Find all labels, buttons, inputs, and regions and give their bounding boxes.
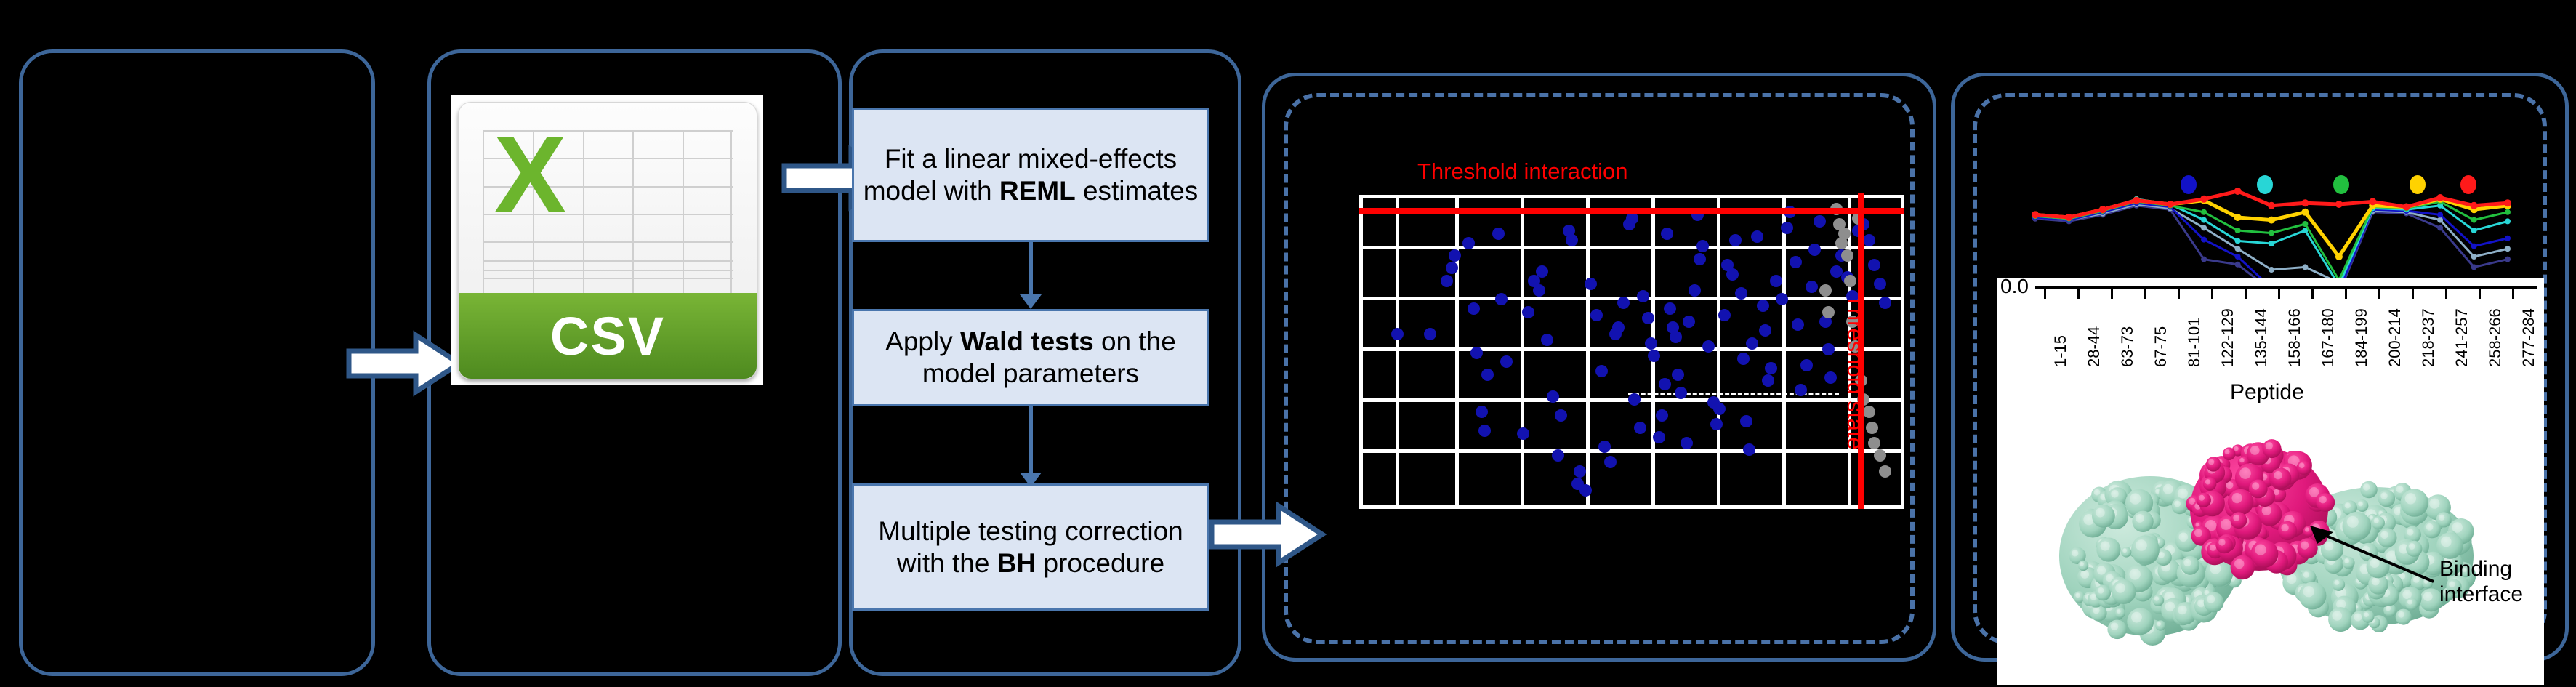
protein-surface-highlight	[2334, 580, 2339, 585]
protein-surface-highlight	[2122, 548, 2127, 553]
step-wald-text: Apply Wald tests on the model parameters	[860, 326, 1202, 389]
peptide-series-marker	[2302, 221, 2308, 227]
protein-surface-highlight	[2441, 537, 2452, 547]
protein-surface-highlight	[2178, 606, 2186, 614]
scatter-point	[1468, 302, 1480, 315]
x-axis-tick-mark	[2479, 289, 2481, 299]
scatter-point	[1822, 343, 1835, 355]
scatter-point	[1598, 441, 1611, 453]
scatter-point	[1642, 312, 1654, 324]
peptide-tick-label: 158-166	[2285, 308, 2304, 367]
scatter-point	[1675, 387, 1687, 399]
legend-dot-4	[2410, 175, 2426, 194]
protein-surface-highlight	[2266, 442, 2273, 449]
protein-surface-highlight	[2179, 533, 2188, 542]
legend-dot-2	[2257, 175, 2273, 194]
protein-surface-highlight	[2370, 515, 2374, 520]
x-axis-tick-mark	[2111, 289, 2113, 299]
protein-surface-highlight	[2111, 490, 2119, 498]
scatter-point	[1814, 215, 1826, 228]
scatter-point	[1792, 318, 1804, 331]
protein-surface-highlight	[2305, 527, 2309, 531]
protein-surface-highlight	[2303, 586, 2314, 597]
scatter-point	[1689, 284, 1701, 297]
protein-surface-atom	[2405, 598, 2418, 610]
scatter-point	[1626, 212, 1638, 225]
scatter-point	[1751, 230, 1763, 243]
arrow-input-to-csv	[346, 331, 462, 396]
peptide-series-marker	[2065, 214, 2072, 221]
scatter-point	[1822, 306, 1835, 318]
protein-surface-atom	[2231, 555, 2255, 579]
protein-surface-atom	[2152, 595, 2164, 606]
x-axis-tick-mark	[2512, 289, 2514, 299]
protein-surface-highlight	[2407, 600, 2412, 605]
protein-surface-atom	[2131, 535, 2160, 563]
protein-surface-atom	[2249, 480, 2268, 499]
protein-surface-atom	[2181, 556, 2199, 575]
spreadsheet-grid-lower-icon	[483, 260, 733, 296]
excel-x-icon: X	[464, 105, 595, 244]
scatter-point	[1770, 275, 1782, 287]
scatter-point	[1824, 371, 1837, 384]
scatter-point	[1781, 222, 1793, 234]
protein-surface-atom	[2231, 512, 2247, 529]
protein-surface-highlight	[2174, 501, 2181, 507]
protein-surface-svg	[1997, 407, 2544, 685]
protein-surface-highlight	[2093, 607, 2099, 614]
scatter-point	[1645, 337, 1657, 350]
protein-surface-highlight	[2364, 612, 2369, 617]
protein-surface-highlight	[2299, 462, 2305, 468]
scatter-point	[1795, 384, 1807, 396]
peptide-series-marker	[2235, 246, 2241, 252]
scatter-point	[1659, 378, 1671, 390]
protein-surface-highlight	[2319, 496, 2327, 503]
scatter-point	[1492, 228, 1505, 240]
scatter-point	[1517, 427, 1529, 440]
protein-surface-highlight	[2115, 583, 2125, 593]
protein-surface-highlight	[2380, 531, 2388, 539]
protein-surface-highlight	[2372, 577, 2380, 585]
protein-surface-atom	[2107, 620, 2127, 640]
scatter-point	[1424, 328, 1436, 340]
protein-surface-atom	[2328, 607, 2353, 632]
protein-structure-image: Binding interface	[1997, 407, 2544, 685]
peptide-series-marker	[2335, 253, 2343, 260]
protein-surface-highlight	[2252, 482, 2259, 489]
peptide-series-marker	[2235, 262, 2241, 268]
scatter-point	[1713, 403, 1726, 415]
protein-surface-highlight	[2405, 493, 2416, 504]
protein-surface-atom	[2197, 493, 2211, 507]
protein-surface-highlight	[2309, 487, 2319, 497]
protein-surface-highlight	[2413, 576, 2420, 583]
protein-surface-highlight	[2183, 559, 2191, 566]
step-bh-text: Multiple testing correction with the BH …	[878, 515, 1183, 579]
protein-surface-atom	[2298, 538, 2318, 558]
protein-surface-highlight	[2398, 611, 2404, 618]
protein-surface-atom	[2278, 521, 2297, 540]
scatter-point	[1740, 415, 1752, 427]
protein-surface-atom	[2172, 498, 2188, 514]
step-reml-box: Fit a linear mixed-effects model with RE…	[852, 108, 1209, 242]
x-axis-tick-mark	[2178, 289, 2180, 299]
protein-surface-highlight	[2370, 558, 2380, 568]
peptide-series-marker	[2201, 225, 2207, 230]
x-axis-tick-mark	[2278, 289, 2280, 299]
protein-surface-highlight	[2075, 593, 2080, 598]
threshold-interaction-line	[1359, 208, 1904, 214]
protein-surface-highlight	[2072, 550, 2078, 556]
protein-surface-highlight	[2439, 515, 2444, 521]
scatter-point	[1555, 409, 1567, 422]
scatter-point	[1672, 369, 1684, 381]
scatter-point	[1541, 334, 1553, 346]
protein-surface-highlight	[2233, 515, 2239, 521]
scatter-point	[1746, 337, 1758, 350]
protein-surface-atom	[2223, 447, 2236, 460]
protein-surface-highlight	[2426, 523, 2434, 531]
peptide-series-marker	[2436, 194, 2444, 201]
connector-reml-to-wald-arrowhead	[1020, 294, 1042, 309]
protein-surface-atom	[2127, 608, 2154, 635]
scatter-point	[1628, 393, 1641, 406]
protein-surface-highlight	[2358, 502, 2363, 507]
connector-reml-to-wald	[1029, 242, 1033, 299]
scatter-point	[1617, 297, 1630, 309]
x-axis-tick-mark	[2412, 289, 2414, 299]
scatter-point	[1653, 431, 1665, 443]
scatter-point	[1670, 331, 1682, 343]
scatter-point	[1612, 321, 1625, 334]
protein-surface-highlight	[2221, 519, 2231, 530]
scatter-point	[1726, 268, 1739, 281]
scatter-point	[1743, 443, 1755, 456]
protein-surface-atom	[2096, 585, 2112, 601]
scatter-point	[1879, 465, 1891, 478]
scatter-point	[1656, 409, 1668, 422]
peptide-series-marker	[2471, 217, 2477, 223]
protein-surface-highlight	[2205, 479, 2210, 484]
protein-surface-highlight	[2207, 595, 2215, 603]
scatter-point	[1585, 278, 1597, 290]
peptide-series-marker	[2268, 202, 2275, 209]
scatter-point	[1776, 293, 1788, 305]
protein-surface-highlight	[2080, 570, 2089, 579]
x-axis-tick-mark	[2445, 289, 2447, 299]
x-axis-tick-mark	[2144, 289, 2146, 299]
scatter-point	[1765, 362, 1777, 374]
scatter-point	[1476, 406, 1488, 418]
x-axis-tick-mark	[2345, 289, 2347, 299]
protein-surface-highlight	[2163, 484, 2173, 494]
scatter-point	[1533, 284, 1545, 297]
protein-surface-highlight	[2232, 493, 2242, 503]
peptide-tick-label: 28-44	[2085, 326, 2104, 367]
scatter-point	[1604, 456, 1617, 468]
scatter-point	[1863, 234, 1875, 246]
protein-surface-atom	[2343, 557, 2355, 569]
csv-file-icon: X CSV	[451, 95, 763, 385]
peptide-series-marker	[2471, 202, 2478, 209]
binding-interface-line1: Binding	[2439, 557, 2523, 582]
peptide-series-marker	[2335, 201, 2343, 208]
protein-surface-highlight	[2098, 587, 2104, 594]
peptide-tick-label: 135-144	[2252, 308, 2271, 367]
peptide-series-marker	[2302, 264, 2308, 270]
scatter-point	[1868, 259, 1880, 271]
peptide-series-marker	[2269, 267, 2274, 273]
protein-surface-highlight	[2325, 542, 2333, 550]
protein-surface-highlight	[2396, 486, 2404, 493]
protein-surface-highlight	[2452, 522, 2463, 532]
y-axis-tick-0: 0.0	[2000, 275, 2029, 298]
scatter-point	[1634, 422, 1646, 434]
peptide-series-marker	[2235, 228, 2241, 233]
protein-surface-highlight	[2429, 499, 2439, 509]
scatter-point	[1552, 449, 1564, 462]
csv-format-label: CSV	[459, 293, 757, 379]
peptide-series-marker	[2403, 204, 2410, 211]
scatter-point	[1879, 297, 1891, 309]
scatter-point	[1470, 347, 1483, 359]
x-axis-tick-mark	[2044, 289, 2046, 299]
protein-surface-highlight	[2096, 508, 2105, 518]
peptide-tick-label: 218-237	[2419, 308, 2438, 367]
peptide-series-marker	[2234, 188, 2242, 195]
protein-surface-atom	[2271, 468, 2292, 489]
scatter-point	[1462, 237, 1475, 249]
protein-surface-atom	[2250, 540, 2278, 568]
arrow-bh-to-results	[1209, 502, 1325, 567]
protein-surface-highlight	[2111, 623, 2119, 631]
peptide-tick-label: 167-180	[2319, 308, 2338, 367]
peptide-series-marker	[2369, 198, 2376, 205]
protein-surface-highlight	[2250, 446, 2260, 455]
scatter-point	[1710, 418, 1723, 430]
protein-surface-highlight	[2281, 524, 2288, 531]
peptide-tick-label: 122-129	[2218, 308, 2237, 367]
scatter-point	[1702, 340, 1715, 353]
scatter-point	[1500, 355, 1513, 368]
protein-surface-atom	[2115, 608, 2125, 618]
scatter-point	[1696, 240, 1709, 252]
protein-surface-atom	[2406, 541, 2422, 557]
scatter-point	[1536, 265, 1548, 278]
protein-surface-atom	[2360, 481, 2378, 499]
protein-surface-atom	[2204, 592, 2224, 613]
protein-surface-highlight	[2117, 609, 2121, 614]
protein-surface-highlight	[2080, 562, 2084, 566]
protein-surface-atom	[2299, 582, 2327, 609]
scatter-point	[1574, 465, 1586, 478]
scatter-point	[1681, 437, 1693, 449]
protein-surface-highlight	[2136, 514, 2144, 523]
scatter-point	[1449, 249, 1461, 262]
scatter-point	[1759, 324, 1771, 337]
peptide-series-marker	[2167, 201, 2174, 208]
protein-surface-highlight	[2402, 590, 2412, 600]
protein-surface-atom	[2297, 461, 2311, 475]
scatter-point	[1441, 275, 1453, 287]
binding-interface-line2: interface	[2439, 582, 2523, 608]
peptide-tick-label: 67-75	[2152, 326, 2170, 367]
protein-surface-atom	[2378, 490, 2396, 507]
legend-dot-3	[2333, 175, 2349, 194]
scatter-point	[1844, 275, 1856, 287]
x-axis-tick-mark	[2311, 289, 2314, 299]
protein-surface-highlight	[2301, 542, 2309, 550]
protein-surface-highlight	[2130, 569, 2141, 579]
protein-surface-atom	[2155, 620, 2165, 630]
protein-surface-highlight	[2262, 506, 2271, 515]
legend-dot-1	[2181, 175, 2197, 194]
peptide-series-marker	[2505, 218, 2511, 224]
peptide-series-marker	[2505, 246, 2511, 252]
peptide-series-marker	[2437, 225, 2443, 230]
protein-surface-highlight	[2208, 459, 2214, 465]
scatter-point	[1661, 228, 1673, 240]
protein-surface-highlight	[2407, 529, 2413, 535]
peptide-series-marker	[2201, 257, 2207, 262]
scatter-point	[1868, 437, 1880, 449]
protein-surface-atom	[2215, 537, 2233, 554]
protein-surface-atom	[2378, 528, 2397, 547]
protein-surface-atom	[2362, 611, 2374, 623]
protein-surface-atom	[2203, 477, 2217, 491]
protein-surface-atom	[2112, 579, 2136, 604]
scatter-point	[1595, 365, 1608, 377]
peptide-tick-label: 63-73	[2118, 326, 2137, 367]
peptide-series-marker	[2234, 214, 2242, 221]
scatter-point	[1838, 228, 1851, 240]
protein-surface-highlight	[2178, 489, 2188, 499]
protein-surface-highlight	[2423, 592, 2433, 601]
scatter-point	[1874, 449, 1886, 462]
scatter-point	[1735, 287, 1747, 300]
protein-surface-atom	[2343, 512, 2372, 541]
peptide-series-marker	[2200, 196, 2207, 203]
protein-surface-atom	[2333, 578, 2346, 591]
scatter-point	[1478, 425, 1491, 437]
protein-surface-highlight	[2347, 516, 2359, 528]
peptide-series-marker	[2471, 228, 2477, 233]
legend-dot-5	[2460, 175, 2476, 194]
peptide-tick-label: 184-199	[2352, 308, 2371, 367]
protein-surface-highlight	[2194, 529, 2202, 537]
threshold-scatter-plot: Threshold interaction Threshold state	[1359, 167, 1904, 509]
protein-surface-highlight	[2255, 545, 2266, 555]
scatter-point	[1762, 374, 1774, 387]
peptide-series-marker	[2235, 254, 2241, 260]
peptide-tick-label: 81-101	[2185, 317, 2204, 367]
step-reml-text: Fit a linear mixed-effects model with RE…	[860, 143, 1202, 206]
step-bh-box: Multiple testing correction with the BH …	[852, 483, 1209, 611]
x-axis-tick-mark	[2077, 289, 2080, 299]
protein-surface-highlight	[2130, 494, 2141, 505]
peptide-series-marker	[2269, 230, 2274, 236]
peptide-tick-label: 258-266	[2486, 308, 2505, 367]
scatter-point	[1637, 290, 1649, 302]
protein-surface-highlight	[2374, 518, 2379, 523]
protein-surface-atom	[2356, 499, 2368, 512]
scatter-point	[1718, 309, 1731, 321]
peptide-series-marker	[2032, 211, 2039, 218]
peptide-series-marker	[2201, 237, 2207, 243]
scatter-points-layer	[1359, 167, 1904, 509]
protein-surface-highlight	[2380, 492, 2387, 499]
peptide-series-marker	[2269, 241, 2274, 246]
scatter-point	[1579, 484, 1592, 497]
input-panel	[19, 49, 375, 676]
protein-surface-atom	[2401, 489, 2428, 516]
peptide-series-marker	[2235, 238, 2241, 244]
peptide-series-marker	[2268, 217, 2275, 224]
flowchart-canvas: X CSV Fit a linear mixed-effects model w…	[0, 0, 2576, 687]
protein-surface-highlight	[2199, 495, 2205, 501]
scatter-point	[1547, 390, 1559, 403]
peptide-series-marker	[2201, 209, 2207, 215]
step-wald-box: Apply Wald tests on the model parameters	[852, 309, 1209, 406]
protein-surface-atom	[2316, 493, 2335, 512]
peptide-series-marker	[2505, 209, 2511, 215]
scatter-point	[1446, 262, 1458, 274]
x-axis-tick-mark	[2378, 289, 2380, 299]
peptide-series-marker	[2437, 212, 2443, 217]
binding-interface-label: Binding interface	[2439, 557, 2523, 607]
protein-surface-highlight	[2136, 539, 2147, 551]
protein-surface-atom	[2132, 511, 2153, 532]
scatter-point	[1737, 353, 1750, 365]
protein-surface-highlight	[2225, 449, 2230, 454]
protein-surface-atom	[2396, 609, 2412, 625]
peptide-tick-label: 1-15	[2051, 335, 2070, 367]
protein-surface-highlight	[2409, 543, 2415, 550]
protein-surface-highlight	[2157, 622, 2161, 627]
protein-surface-atom	[2228, 489, 2254, 515]
protein-surface-atom	[2436, 532, 2463, 559]
peptide-series-marker	[2099, 206, 2106, 213]
connector-wald-to-bh	[1029, 406, 1033, 478]
protein-surface-highlight	[2344, 558, 2349, 563]
scatter-point	[1819, 284, 1832, 297]
peptide-series-marker	[2301, 199, 2309, 206]
peptide-series-marker	[2471, 254, 2477, 260]
protein-surface-highlight	[2234, 446, 2238, 451]
protein-surface-highlight	[2234, 559, 2244, 569]
csv-icon-body: X CSV	[458, 102, 757, 379]
x-axis-tick-mark	[2211, 289, 2213, 299]
peptide-series-marker	[2133, 197, 2140, 204]
protein-surface-highlight	[2101, 541, 2110, 550]
protein-surface-highlight	[2210, 545, 2216, 551]
scatter-point	[1790, 256, 1802, 268]
protein-surface-highlight	[2363, 483, 2370, 490]
protein-surface-atom	[2206, 457, 2221, 471]
protein-surface-highlight	[2333, 611, 2343, 621]
protein-surface-highlight	[2239, 458, 2244, 462]
scatter-point	[1683, 316, 1695, 328]
scatter-point	[1800, 359, 1813, 371]
scatter-point	[1391, 328, 1404, 340]
peptide-series-marker	[2471, 264, 2477, 270]
peptide-tick-label: 200-214	[2386, 308, 2404, 367]
scatter-point	[1729, 234, 1742, 246]
protein-surface-atom	[2263, 439, 2282, 458]
scatter-point	[1648, 350, 1660, 362]
protein-surface-highlight	[2154, 596, 2159, 600]
